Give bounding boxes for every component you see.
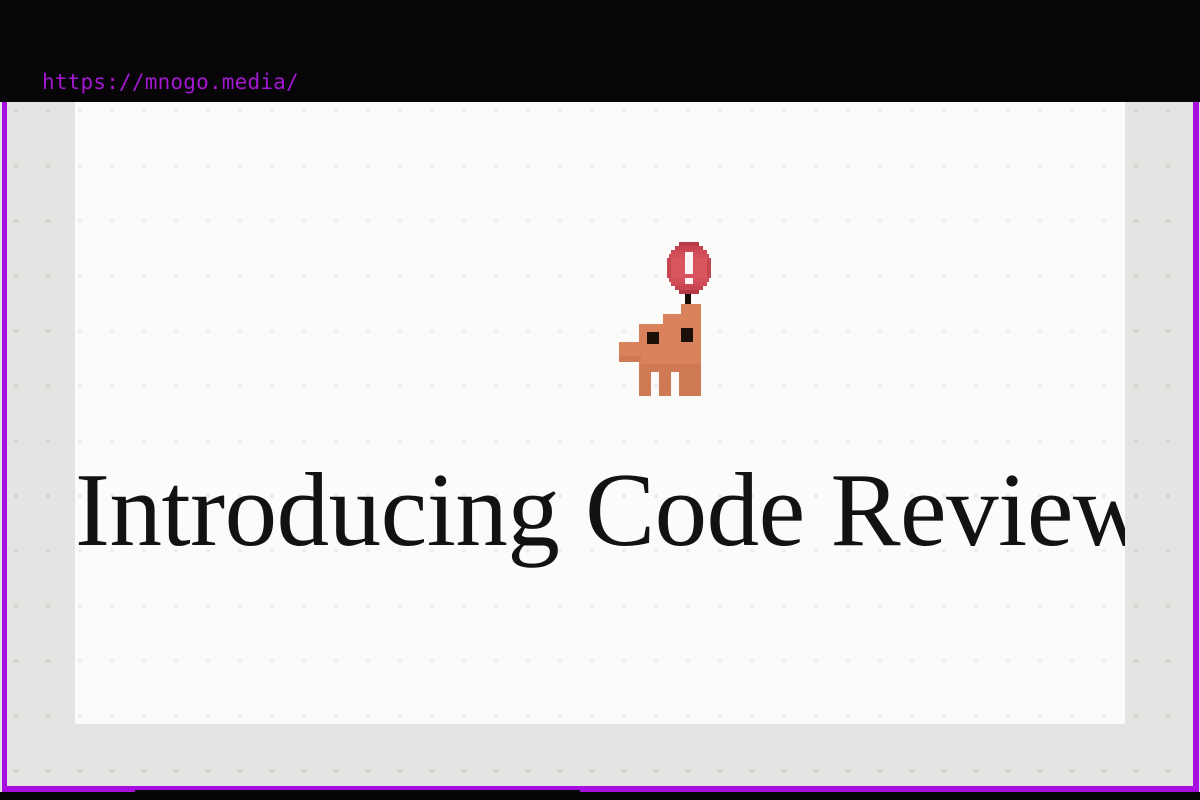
mascot-svg: [599, 238, 723, 418]
screen-root: https://mnogo.media/: [0, 0, 1200, 800]
octagon-alert-icon: [667, 242, 711, 294]
slide-card: Introducing Code Review: [75, 102, 1125, 724]
viewport-frame-bottom-gap: [135, 790, 580, 792]
viewport-frame-right: [1193, 102, 1199, 792]
dog-legs: [639, 372, 701, 396]
dog-eye-left: [647, 332, 659, 344]
viewport-frame-left: [2, 102, 7, 792]
url-text[interactable]: https://mnogo.media/: [42, 72, 299, 93]
dog-eye-right: [681, 328, 693, 342]
pixel-dog-with-alert-sign-icon: [599, 238, 723, 418]
browser-top-bar: https://mnogo.media/: [0, 0, 1200, 102]
page-viewport: Introducing Code Review: [0, 102, 1200, 792]
page-title: Introducing Code Review: [75, 457, 1125, 562]
